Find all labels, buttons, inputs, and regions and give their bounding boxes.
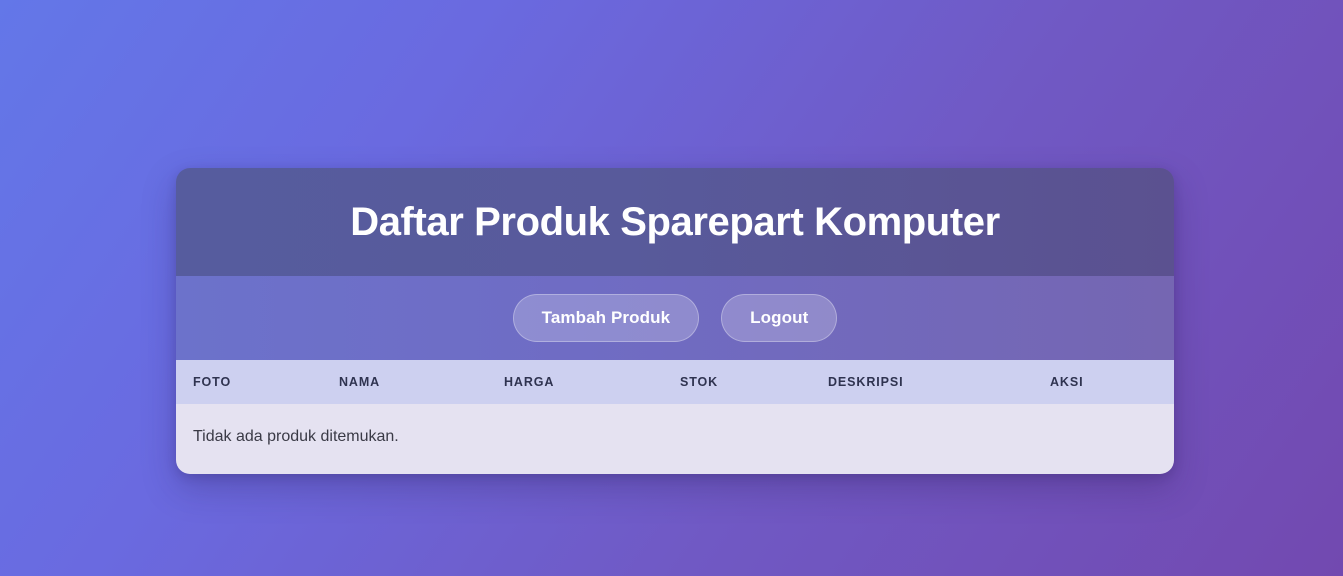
- empty-state-message: Tidak ada produk ditemukan.: [176, 404, 1174, 474]
- table-header-row: FOTO NAMA HARGA STOK DESKRIPSI AKSI: [176, 360, 1174, 404]
- logout-button[interactable]: Logout: [721, 294, 837, 342]
- page-background: Daftar Produk Sparepart Komputer Tambah …: [0, 0, 1343, 576]
- product-table-body: Tidak ada produk ditemukan.: [176, 404, 1174, 474]
- column-header-foto: FOTO: [176, 360, 339, 404]
- product-list-card: Daftar Produk Sparepart Komputer Tambah …: [176, 168, 1174, 474]
- column-header-deskripsi: DESKRIPSI: [828, 360, 1050, 404]
- card-toolbar: Tambah Produk Logout: [176, 276, 1174, 360]
- add-product-button[interactable]: Tambah Produk: [513, 294, 700, 342]
- page-title: Daftar Produk Sparepart Komputer: [350, 200, 1000, 244]
- column-header-stok: STOK: [680, 360, 828, 404]
- empty-state-row: Tidak ada produk ditemukan.: [176, 404, 1174, 474]
- column-header-nama: NAMA: [339, 360, 504, 404]
- product-table-header: FOTO NAMA HARGA STOK DESKRIPSI AKSI: [176, 360, 1174, 404]
- column-header-harga: HARGA: [504, 360, 680, 404]
- column-header-aksi: AKSI: [1050, 360, 1174, 404]
- card-header: Daftar Produk Sparepart Komputer: [176, 168, 1174, 276]
- product-table: FOTO NAMA HARGA STOK DESKRIPSI AKSI Tida…: [176, 360, 1174, 474]
